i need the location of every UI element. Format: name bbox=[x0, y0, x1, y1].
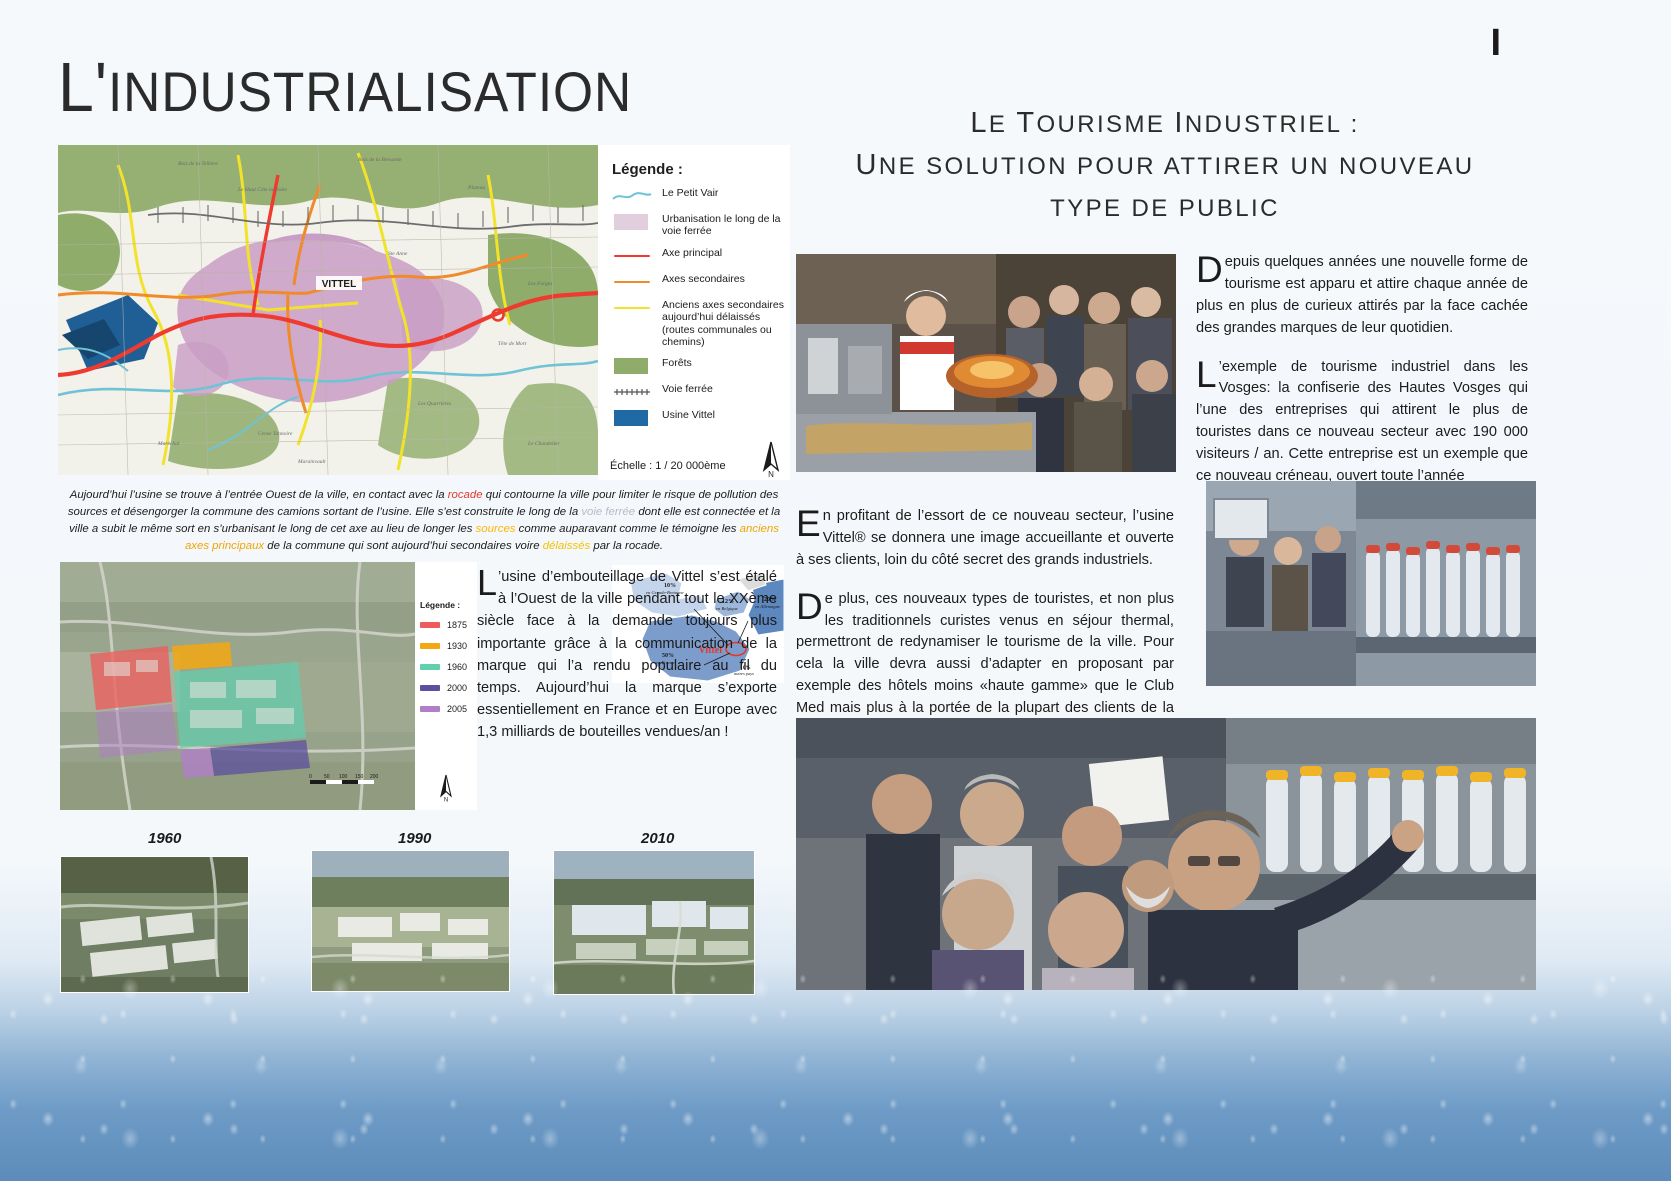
poster-page: I L'INDUSTRIALISATION bbox=[0, 0, 1671, 1181]
paragraph-1-text: epuis quelques années une nouvelle forme… bbox=[1196, 254, 1528, 336]
caption-highlight-delaisses: délaissés bbox=[543, 540, 591, 552]
page-number: I bbox=[1490, 22, 1501, 65]
map-scale: Échelle : 1 / 20 000ème bbox=[610, 460, 726, 472]
legend-item-usine-vittel: Usine Vittel bbox=[612, 409, 784, 426]
aerial-legend-year: 1875 bbox=[447, 620, 467, 630]
paragraph-2-text: ’exemple de tourisme industriel dans les… bbox=[1196, 359, 1528, 484]
caption-part: comme auparavant comme le témoigne les bbox=[516, 523, 740, 535]
svg-text:Plateau: Plateau bbox=[467, 185, 485, 191]
svg-text:Cense Tannoire: Cense Tannoire bbox=[258, 431, 293, 437]
paragraph-2: L’exemple de tourisme industriel dans le… bbox=[1196, 357, 1528, 488]
legend-label: Usine Vittel bbox=[662, 409, 715, 421]
timeline-year-1960: 1960 bbox=[148, 830, 181, 847]
timeline-year-1990: 1990 bbox=[398, 830, 431, 847]
topographic-map: VITTEL Bois de la Tellière Bois de la Br… bbox=[58, 145, 598, 475]
color-swatch-1875 bbox=[420, 622, 440, 628]
color-swatch-1930 bbox=[420, 643, 440, 649]
map-caption: Aujourd’hui l’usine se trouve à l’entrée… bbox=[62, 487, 786, 555]
aerial-photo-2010 bbox=[553, 850, 755, 995]
usine-paragraph-text: ’usine d’embouteillage de Vittel s’est é… bbox=[477, 569, 777, 740]
paragraph-3-text: n profitant de l’essort de ce nouveau se… bbox=[796, 508, 1174, 568]
caption-part: de la commune qui sont aujourd’hui secon… bbox=[264, 540, 543, 552]
svg-text:Bois de la Bressotte: Bois de la Bressotte bbox=[358, 157, 402, 163]
map-legend-list: Le Petit Vair Urbanisation le long de la… bbox=[612, 187, 784, 435]
photo-guided-tour-factory bbox=[796, 718, 1536, 990]
svg-text:200: 200 bbox=[370, 774, 379, 780]
svg-text:Les Forges: Les Forges bbox=[527, 281, 552, 287]
color-swatch-2000 bbox=[420, 685, 440, 691]
factory-swatch-icon bbox=[612, 410, 652, 426]
red-line-icon bbox=[612, 248, 652, 264]
aerial-legend-item-2005: 2005 bbox=[420, 704, 467, 714]
dropcap: D bbox=[1196, 255, 1223, 284]
topographic-map-graphic: VITTEL Bois de la Tellière Bois de la Br… bbox=[58, 145, 598, 475]
legend-item-petit-vair: Le Petit Vair bbox=[612, 187, 784, 204]
color-swatch-1960 bbox=[420, 664, 440, 670]
map-legend-title: Légende : bbox=[612, 161, 683, 178]
legend-label: Axe principal bbox=[662, 247, 722, 259]
legend-item-urbanisation: Urbanisation le long de la voie ferrée bbox=[612, 213, 784, 238]
legend-label: Anciens axes secondaires aujourd’hui dél… bbox=[662, 299, 784, 349]
caption-part: par la rocade. bbox=[590, 540, 663, 552]
caption-highlight-sources: sources bbox=[476, 523, 516, 535]
paragraph-4-text: e plus, ces nouveaux types de touristes,… bbox=[796, 591, 1174, 738]
aerial-legend: Légende : 1875 1930 1960 2000 2005 bbox=[415, 562, 477, 810]
river-icon bbox=[612, 188, 652, 204]
svg-text:Le Chandelier: Le Chandelier bbox=[527, 441, 560, 447]
dropcap: L bbox=[477, 568, 497, 597]
svg-text:Les Quarrières: Les Quarrières bbox=[417, 401, 451, 407]
north-arrow-icon: N bbox=[758, 440, 784, 478]
legend-label: Urbanisation le long de la voie ferrée bbox=[662, 213, 784, 238]
color-swatch-2005 bbox=[420, 706, 440, 712]
photo-confiserie-demonstration bbox=[796, 254, 1176, 472]
urbanisation-swatch-icon bbox=[612, 214, 652, 230]
dropcap: D bbox=[796, 592, 823, 621]
legend-item-axes-secondaires: Axes secondaires bbox=[612, 273, 784, 290]
aerial-legend-item-2000: 2000 bbox=[420, 683, 467, 693]
svg-text:Maréchal: Maréchal bbox=[157, 441, 180, 447]
svg-text:VITTEL: VITTEL bbox=[322, 279, 356, 290]
aerial-photo-1960 bbox=[60, 856, 249, 993]
right-title-line-3: TYPE DE PUBLIC bbox=[800, 186, 1530, 228]
svg-text:N: N bbox=[768, 470, 774, 478]
right-column-title: LE TOURISME INDUSTRIEL : UNE SOLUTION PO… bbox=[800, 102, 1530, 228]
aerial-growth-graphic: 050100 150200 bbox=[60, 562, 415, 810]
page-title-rest: INDUSTRIALISATION bbox=[108, 60, 632, 123]
page-title-lead: L' bbox=[58, 48, 108, 126]
aerial-legend-list: 1875 1930 1960 2000 2005 bbox=[420, 620, 467, 725]
svg-text:0: 0 bbox=[309, 774, 312, 780]
legend-label: Axes secondaires bbox=[662, 273, 745, 285]
right-title-line-2: UNE SOLUTION POUR ATTIRER UN NOUVEAU bbox=[800, 144, 1530, 186]
dropcap: L bbox=[1196, 360, 1217, 389]
aerial-legend-item-1930: 1930 bbox=[420, 641, 467, 651]
caption-highlight-rocade: rocade bbox=[448, 489, 483, 501]
aerial-legend-year: 2000 bbox=[447, 683, 467, 693]
caption-highlight-voie-ferree: voie ferrée bbox=[581, 506, 635, 518]
usine-paragraph: L’usine d’embouteillage de Vittel s’est … bbox=[477, 566, 777, 743]
svg-text:Tête de Mort: Tête de Mort bbox=[498, 341, 527, 347]
svg-text:N: N bbox=[444, 798, 448, 803]
page-title: L'INDUSTRIALISATION bbox=[58, 52, 632, 122]
svg-text:Le Haut Côte la Voûte: Le Haut Côte la Voûte bbox=[237, 187, 287, 193]
aerial-north-arrow-icon: N bbox=[437, 774, 455, 802]
aerial-legend-year: 2005 bbox=[447, 704, 467, 714]
paragraph-1: Depuis quelques années une nouvelle form… bbox=[1196, 252, 1528, 340]
right-title-line-1: LE TOURISME INDUSTRIEL : bbox=[800, 102, 1530, 144]
svg-text:100: 100 bbox=[339, 774, 348, 780]
aerial-legend-year: 1930 bbox=[447, 641, 467, 651]
svg-text:50: 50 bbox=[324, 774, 330, 780]
legend-item-forets: Forêts bbox=[612, 357, 784, 374]
legend-item-voie-ferree: Voie ferrée bbox=[612, 383, 784, 400]
legend-label: Le Petit Vair bbox=[662, 187, 718, 199]
forest-swatch-icon bbox=[612, 358, 652, 374]
map-legend: Légende : Le Petit Vair Urbanisation le … bbox=[598, 145, 790, 480]
aerial-growth-map: 050100 150200 bbox=[60, 562, 415, 810]
svg-text:Ste Anne: Ste Anne bbox=[388, 251, 408, 257]
aerial-photo-1990 bbox=[311, 850, 510, 992]
legend-item-axe-principal: Axe principal bbox=[612, 247, 784, 264]
aerial-legend-item-1960: 1960 bbox=[420, 662, 467, 672]
aerial-legend-year: 1960 bbox=[447, 662, 467, 672]
aerial-legend-title: Légende : bbox=[420, 600, 460, 610]
caption-part: Aujourd’hui l’usine se trouve à l’entrée… bbox=[70, 489, 448, 501]
svg-text:Marainvault: Marainvault bbox=[297, 459, 326, 465]
photo-bottling-line bbox=[1206, 481, 1536, 686]
yellow-line-icon bbox=[612, 300, 652, 316]
aerial-legend-item-1875: 1875 bbox=[420, 620, 467, 630]
railway-icon bbox=[612, 384, 652, 400]
dropcap: E bbox=[796, 509, 821, 538]
orange-line-icon bbox=[612, 274, 652, 290]
svg-text:Bois de la Tellière: Bois de la Tellière bbox=[178, 161, 218, 167]
paragraph-3: En profitant de l’essort de ce nouveau s… bbox=[796, 506, 1174, 572]
timeline-year-2010: 2010 bbox=[641, 830, 674, 847]
svg-text:150: 150 bbox=[355, 774, 364, 780]
legend-label: Voie ferrée bbox=[662, 383, 713, 395]
right-text-block-1: Depuis quelques années une nouvelle form… bbox=[1196, 252, 1528, 505]
legend-item-anciens-axes: Anciens axes secondaires aujourd’hui dél… bbox=[612, 299, 784, 349]
legend-label: Forêts bbox=[662, 357, 692, 369]
